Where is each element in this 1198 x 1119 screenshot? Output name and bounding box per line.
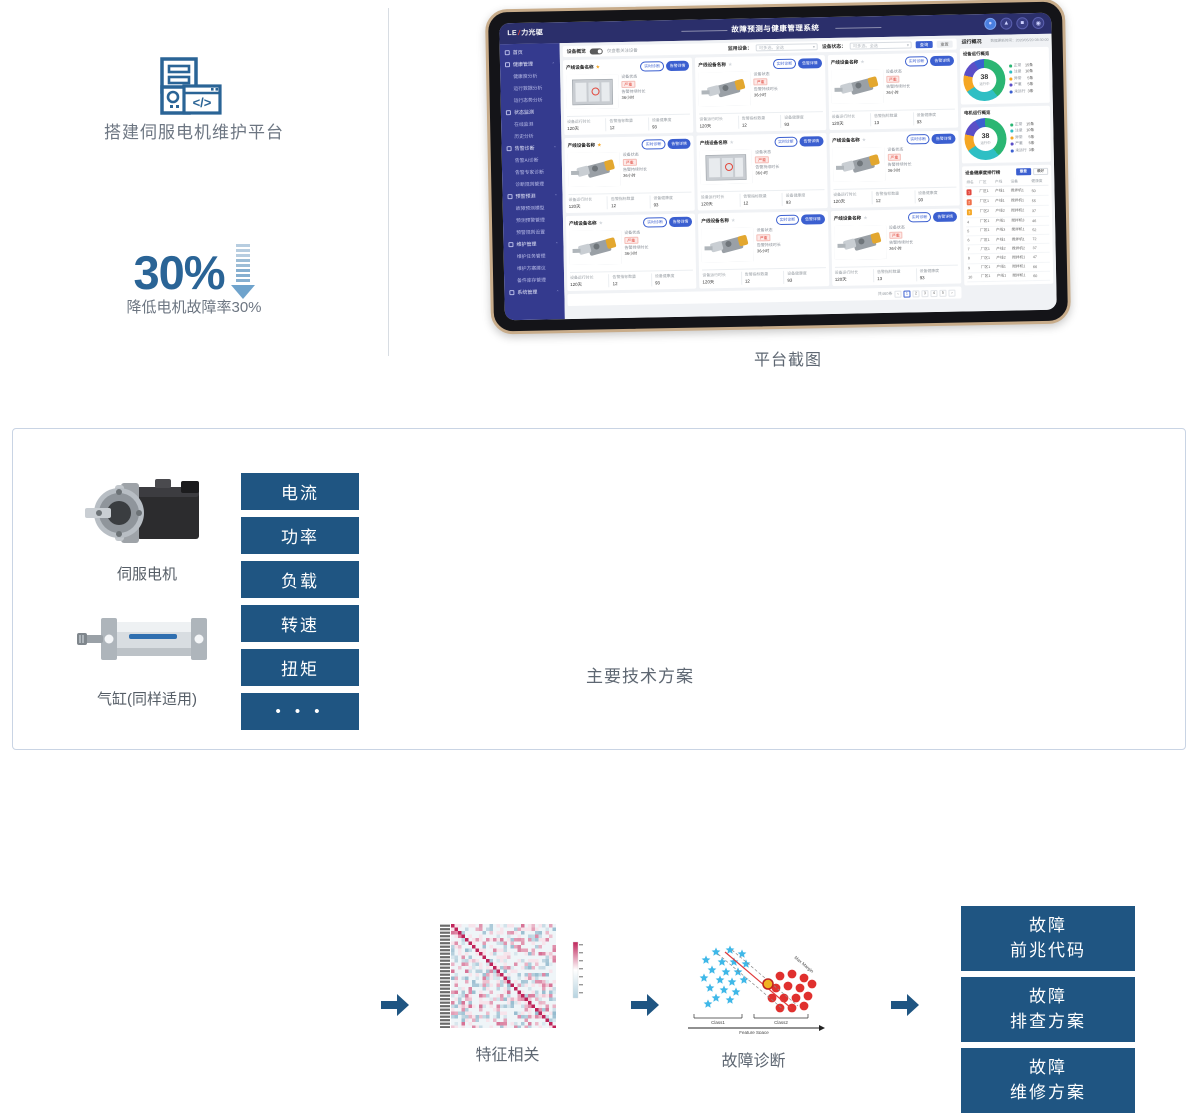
- stat-block: 30%: [0, 240, 388, 304]
- device-card-actions: 实时诊断 告警详情: [775, 214, 824, 225]
- favorite-star-icon[interactable]: ★: [863, 216, 868, 221]
- tablet-mockup: LE / 力光驱 故障预测与健康管理系统 ● ▲ ■ ◉ 首页健康管理⌃: [478, 0, 1098, 340]
- status-label: 设备状态: [623, 151, 691, 158]
- output-line1: 故障: [1029, 1056, 1067, 1081]
- filter-label-status: 设备状态：: [822, 43, 846, 50]
- favorite-star-icon[interactable]: ★: [729, 140, 734, 145]
- device-card-header: 产线设备名称 ★ 实时诊断 告警详情: [834, 212, 957, 224]
- status-badge: 严重: [889, 231, 903, 239]
- device-stat: 设备运行时长120天: [832, 113, 871, 127]
- legend-row: 未运行 3条: [1010, 89, 1034, 94]
- legend-value: 3条: [1028, 89, 1034, 94]
- output-line1: 故障: [1029, 914, 1067, 939]
- table-row[interactable]: 10 厂区1 产线1 搅拌机1 60: [967, 271, 1050, 282]
- device-stats-row: 设备运行时长120天告警指标数量12设备健康度93: [699, 111, 823, 129]
- legend-label: 异常: [1014, 76, 1022, 81]
- status-label: 设备状态: [886, 68, 954, 75]
- area-cell: 厂区2: [979, 207, 995, 217]
- favorites-toggle[interactable]: [590, 48, 603, 54]
- reset-button[interactable]: 重置: [936, 41, 953, 48]
- legend-row: 注意 10条: [1009, 69, 1033, 74]
- status-badge: 严重: [757, 234, 771, 242]
- stat-caption: 降低电机故障率30%: [0, 296, 388, 317]
- device-card[interactable]: 产线设备名称 ★ 实时诊断 告警详情 设备状态 严重 告警持续时长 36小时 设…: [563, 58, 694, 135]
- sidebar-item-label: 维护任务管理: [517, 252, 546, 260]
- device-stat-value: 13: [874, 119, 913, 125]
- status-badge: 严重: [621, 80, 635, 88]
- device-stat-value: 93: [918, 197, 957, 203]
- device-image: [566, 74, 619, 109]
- arrow-right-icon: [891, 994, 919, 1021]
- sidebar-item-label: 预警预测: [515, 192, 535, 199]
- device-stat-value: 12: [742, 122, 781, 128]
- area-cell: 厂区1: [979, 235, 995, 244]
- legend-label: 正常: [1015, 122, 1023, 127]
- status-badge: 严重: [887, 153, 901, 161]
- ranking-column-header: 产线: [994, 178, 1010, 187]
- platform-caption: 搭建伺服电机维护平台: [0, 118, 388, 143]
- pagination-prev[interactable]: ‹: [894, 290, 901, 297]
- realtime-diagnose-button[interactable]: 实时诊断: [640, 61, 664, 71]
- favorite-star-icon[interactable]: ★: [862, 138, 867, 143]
- realtime-diagnose-button[interactable]: 实时诊断: [774, 137, 798, 147]
- device-status-block: 设备状态 严重 告警持续时长 36小时: [753, 70, 822, 110]
- donut-center-value: 38: [981, 133, 989, 140]
- legend-dot-icon: [1009, 71, 1012, 74]
- toggle-label: 仅查看关注设备: [607, 47, 638, 54]
- device-stat: 设备健康度93: [648, 117, 691, 131]
- device-stat: 告警指标数量13: [870, 112, 913, 126]
- parameter-box-3[interactable]: 转速: [241, 605, 359, 642]
- realtime-diagnose-button[interactable]: 实时诊断: [772, 59, 796, 69]
- legend-row: 异常 5条: [1009, 76, 1033, 81]
- status-badge: 严重: [624, 236, 638, 244]
- diagnosis-caption: 故障诊断: [676, 1047, 831, 1071]
- filter-label-device: 监用设备：: [728, 44, 752, 51]
- device-stat-value: 93: [787, 277, 826, 283]
- rank-cell: 7: [967, 245, 980, 254]
- ranking-header: 设备健康度排行榜 最差最好: [965, 168, 1048, 177]
- device-card-body: 设备状态 严重 告警持续时长 36小时: [834, 224, 958, 265]
- alarm-detail-button[interactable]: 告警详情: [801, 214, 825, 224]
- pagination-page-2[interactable]: 2: [912, 290, 919, 297]
- rank-cell: 2: [966, 197, 979, 207]
- ranking-tab[interactable]: 最差: [1016, 168, 1031, 175]
- chevron-up-icon: ⌃: [555, 241, 558, 246]
- device-card[interactable]: 产线设备名称 ★ 实时诊断 告警详情 设备状态 严重 告警持续时长 36小时 设…: [564, 136, 695, 213]
- device-card[interactable]: 产线设备名称 ★ 实时诊断 告警详情 设备状态 严重 告警持续时长 36小时 设…: [695, 55, 826, 132]
- alarm-detail-button[interactable]: 告警详情: [932, 134, 956, 144]
- product-column: 伺服电机: [71, 469, 223, 719]
- rank-badge: 2: [967, 199, 972, 205]
- area-cell: 厂区1: [978, 197, 994, 207]
- legend-value: 10条: [1026, 128, 1034, 133]
- ranking-tabs[interactable]: 最差最好: [1016, 168, 1049, 176]
- legend-label: 注意: [1015, 129, 1023, 134]
- main-solution-caption: 主要技术方案: [540, 662, 740, 687]
- legend-row: 异常 5条: [1010, 135, 1034, 140]
- status-label: 设备状态: [624, 229, 692, 236]
- technical-solution-panel: 伺服电机: [12, 428, 1186, 750]
- arrow-right-icon: [381, 994, 409, 1021]
- section-divider: [388, 8, 389, 356]
- device-card-actions: 实时诊断 告警详情: [640, 61, 689, 72]
- device-stat-value: 93: [654, 202, 693, 208]
- realtime-diagnose-button[interactable]: 实时诊断: [905, 56, 929, 66]
- device-card-actions: 实时诊断 告警详情: [906, 134, 955, 145]
- pagination-page-5[interactable]: 5: [939, 289, 946, 296]
- device-stat-value: 120天: [569, 203, 608, 210]
- line-cell: 产线1: [996, 272, 1012, 281]
- right-panel-header: 运行概况 数据更新时间：2020/05/20 08:30:00: [960, 37, 1049, 46]
- bell-icon[interactable]: ■: [1016, 17, 1028, 29]
- sidebar-item-label: 运行数据分析: [513, 84, 542, 92]
- legend-dot-icon: [1010, 136, 1013, 139]
- parameter-box-2[interactable]: 负载: [241, 561, 359, 598]
- duration-value: 36小时: [888, 168, 901, 173]
- device-card[interactable]: 产线设备名称 ★ 实时诊断 告警详情 设备状态 严重 告警持续时长 36小时 设…: [566, 214, 697, 291]
- device-card[interactable]: 产线设备名称 ★ 实时诊断 告警详情 设备状态 严重 告警持续时长 36小时 设…: [828, 53, 959, 130]
- device-card-header: 产线设备名称 ★ 实时诊断 告警详情: [698, 58, 821, 70]
- alarm-detail-button[interactable]: 告警详情: [667, 139, 691, 149]
- line-cell: 产线2: [995, 253, 1011, 262]
- status-badge: 严重: [754, 78, 768, 86]
- device-cell: 搅拌机2: [1010, 206, 1031, 217]
- device-status-block: 设备状态 严重 告警持续时长 36小时: [623, 151, 692, 191]
- favorite-star-icon[interactable]: ★: [596, 65, 601, 70]
- device-stat: 设备运行时长120天: [699, 116, 738, 130]
- product-item: 伺服电机: [71, 469, 223, 584]
- sidebar-item-icon: [507, 146, 512, 151]
- ranking-tab[interactable]: 最好: [1033, 168, 1048, 175]
- device-card[interactable]: 产线设备名称 ★ 实时诊断 告警详情 设备状态 严重 告警持续时长 36小时 设…: [698, 211, 829, 288]
- output-column: 故障 前兆代码 故障 排查方案 故障 维修方案: [961, 906, 1135, 1119]
- device-card[interactable]: 产线设备名称 ★ 实时诊断 告警详情 设备状态 严重 告警持续时长 36小时 设…: [697, 133, 828, 210]
- legend-dot-icon: [1011, 143, 1014, 146]
- device-stat: 告警指标数量12: [605, 117, 648, 131]
- output-box-0[interactable]: 故障 前兆代码: [961, 906, 1135, 971]
- tablet-bezel: LE / 力光驱 故障预测与健康管理系统 ● ▲ ■ ◉ 首页健康管理⌃: [485, 0, 1071, 335]
- device-stat: 告警指标数量12: [738, 115, 781, 129]
- score-cell: 55: [1031, 195, 1049, 206]
- duration-value: 36小时: [754, 92, 767, 97]
- device-stat-value: 12: [876, 197, 915, 203]
- duration-value: 36小时: [625, 251, 638, 256]
- device-stat: 告警指标数量12: [741, 271, 784, 285]
- device-stat: 设备运行时长120天: [567, 118, 606, 132]
- device-stats-row: 设备运行时长120天告警指标数量12设备健康度93: [570, 270, 694, 288]
- output-box-1[interactable]: 故障 排查方案: [961, 977, 1135, 1042]
- device-stat-value: 12: [610, 124, 649, 130]
- status-label: 设备状态: [887, 146, 955, 153]
- sidebar-item-label: 系统管理: [517, 288, 537, 295]
- rank-badge: 1: [966, 189, 971, 195]
- parameter-column: 电流功率负载转速扭矩• • •: [241, 473, 359, 737]
- device-stat: 设备运行时长120天: [570, 274, 609, 288]
- legend-row: 严重 5条: [1011, 141, 1035, 146]
- filter-select-device[interactable]: 可多选、全选 ▾: [756, 43, 818, 51]
- device-image: [569, 230, 622, 265]
- realtime-diagnose-button[interactable]: 实时诊断: [908, 212, 932, 222]
- device-status-block: 设备状态 严重 告警持续时长 36小时: [624, 229, 693, 269]
- legend-label: 未运行: [1014, 89, 1025, 94]
- device-card-actions: 实时诊断 告警详情: [643, 217, 692, 228]
- device-image: [832, 147, 885, 182]
- device-stat-value: 93: [652, 124, 691, 130]
- device-stat: 告警指标数量12: [608, 273, 651, 287]
- legend-value: 5条: [1027, 82, 1033, 87]
- legend-label: 未运行: [1015, 148, 1026, 153]
- score-cell: 37: [1032, 243, 1050, 253]
- sidebar-item-icon: [506, 110, 511, 115]
- favorite-star-icon[interactable]: ★: [731, 218, 736, 223]
- device-image: [700, 149, 753, 184]
- donut-chart: 38 运行中: [964, 118, 1007, 161]
- filter-select-status[interactable]: 可多选、全选 ▾: [850, 41, 912, 49]
- device-card-body: 设备状态 严重 告警持续时长 36小时: [568, 151, 692, 192]
- pagination-page-1[interactable]: 1: [903, 290, 910, 297]
- realtime-diagnose-button[interactable]: 实时诊断: [775, 215, 799, 225]
- ranking-table-body: 1 厂区1 产线1 搅拌机1 50 2 厂区1 产线1 搅拌机1 55 3 厂区…: [965, 185, 1050, 281]
- legend-value: 10条: [1025, 69, 1033, 74]
- legend-row: 正常 15条: [1009, 63, 1033, 68]
- ranking-title: 设备健康度排行榜: [965, 169, 1000, 176]
- score-cell: 50: [1030, 185, 1048, 196]
- header-icon-group: ● ▲ ■ ◉: [984, 17, 1044, 30]
- device-stat-value: 13: [877, 275, 916, 281]
- area-cell: 厂区1: [979, 244, 995, 253]
- sidebar-item-label: 备件库存管理: [517, 276, 546, 284]
- device-cell: 搅拌机1: [1010, 186, 1031, 197]
- line-cell: 产线2: [994, 206, 1010, 216]
- chevron-up-icon: ⌃: [554, 193, 557, 198]
- sidebar-item-20[interactable]: 系统管理⌃: [504, 285, 564, 298]
- device-cell: 搅拌机2: [1011, 244, 1032, 254]
- area-cell: 厂区1: [980, 263, 996, 272]
- device-status-block: 设备状态 严重 告警持续时长 36小时: [621, 73, 690, 113]
- ranking-column-header: 排名: [965, 178, 978, 187]
- rank-cell: 5: [966, 226, 979, 235]
- sidebar-item-icon: [508, 242, 513, 247]
- legend-label: 异常: [1015, 135, 1023, 140]
- device-stats-row: 设备运行时长120天告警指标数量12设备健康度93: [833, 187, 957, 205]
- device-stat: 设备健康度93: [916, 268, 959, 282]
- favorite-star-icon[interactable]: ★: [728, 62, 733, 67]
- chevron-down-icon: ▾: [907, 42, 909, 47]
- legend-value: 5条: [1028, 135, 1034, 140]
- device-stat-value: 12: [611, 202, 650, 208]
- device-card-body: 设备状态 严重 告警持续时长 36小时: [566, 73, 690, 114]
- area-cell: 厂区1: [979, 226, 995, 235]
- rank-badge: 3: [967, 209, 972, 215]
- device-cell: 搅拌机1: [1011, 253, 1032, 263]
- rank-cell: 3: [966, 207, 979, 217]
- device-stat: 设备运行时长120天: [833, 191, 872, 205]
- device-stat-value: 93: [917, 119, 956, 125]
- output-line2: 前兆代码: [1010, 939, 1086, 964]
- parameter-box-4[interactable]: 扭矩: [241, 649, 359, 686]
- svg-text:</>: </>: [193, 95, 212, 110]
- legend-label: 严重: [1015, 142, 1023, 147]
- device-card-header: 产线设备名称 ★ 实时诊断 告警详情: [566, 61, 689, 73]
- sidebar-item-label: 在线监测: [514, 120, 533, 127]
- sidebar-item-label: 告警专家诊断: [515, 168, 544, 176]
- status-label: 设备状态: [756, 226, 824, 233]
- device-cell: 搅拌机1: [1011, 262, 1032, 272]
- device-stat: 设备健康度93: [651, 273, 694, 287]
- parameter-box-1[interactable]: 功率: [241, 517, 359, 554]
- rank-cell: 4: [966, 217, 979, 226]
- donut-legend: 正常 15条 注意 10条 异常 5条 严重 5条: [1010, 122, 1035, 155]
- duration-value: 36小时: [886, 90, 899, 95]
- rank-cell: 1: [965, 187, 978, 197]
- legend-value: 3条: [1029, 148, 1035, 153]
- sidebar-item-label: 告警AI诊断: [515, 156, 539, 163]
- favorite-star-icon[interactable]: ★: [599, 221, 604, 226]
- sidebar-item-icon: [505, 50, 510, 55]
- score-cell: 47: [1032, 253, 1050, 263]
- output-box-2[interactable]: 故障 维修方案: [961, 1048, 1135, 1113]
- donut-center-label: 运行中: [980, 140, 990, 145]
- sidebar-item-label: 诊断规则管理: [515, 180, 544, 188]
- realtime-diagnose-button[interactable]: 实时诊断: [643, 217, 667, 227]
- axis-label: Feature Space: [739, 1030, 769, 1034]
- legend-row: 注意 10条: [1010, 128, 1034, 133]
- device-stat-value: 120天: [835, 276, 874, 283]
- legend-row: 严重 5条: [1009, 82, 1033, 87]
- legend-dot-icon: [1009, 84, 1012, 87]
- device-stat-value: 93: [920, 275, 959, 281]
- device-stat: 设备运行时长120天: [835, 269, 874, 283]
- device-cell: 搅拌机1: [1010, 196, 1031, 207]
- legend-dot-icon: [1010, 130, 1013, 133]
- alarm-detail-button[interactable]: 告警详情: [800, 136, 824, 146]
- legend-row: 正常 15条: [1010, 122, 1034, 127]
- product-item: 气缸(同样适用): [71, 594, 223, 709]
- ranking-card: 设备健康度排行榜 最差最好 排名厂区产线设备健康度 1 厂区1 产线1 搅拌机1…: [962, 165, 1053, 286]
- svm-classification-chart: Max Margin Class1 Class2 Feature Space: [676, 936, 831, 1034]
- alarm-detail-button[interactable]: 告警详情: [669, 217, 693, 227]
- ranking-column-header: 厂区: [978, 178, 994, 187]
- chevron-up-icon: ⌃: [556, 289, 559, 294]
- sidebar-item-label: 运行态势分析: [514, 96, 543, 104]
- area-cell: 厂区1: [980, 254, 996, 263]
- score-cell: 72: [1031, 234, 1049, 244]
- user-icon[interactable]: ●: [984, 18, 996, 30]
- legend-dot-icon: [1009, 77, 1012, 80]
- device-stat: 设备健康度93: [914, 190, 957, 204]
- device-stat: 设备健康度93: [783, 270, 826, 284]
- device-name: 产线设备名称: [834, 215, 862, 222]
- tablet-caption: 平台截图: [478, 346, 1098, 370]
- status-label: 设备状态: [755, 148, 823, 155]
- device-image: [831, 69, 884, 104]
- down-arrow-icon: [231, 244, 255, 304]
- tablet-screen: LE / 力光驱 故障预测与健康管理系统 ● ▲ ■ ◉ 首页健康管理⌃: [499, 13, 1057, 321]
- search-button[interactable]: 查询: [916, 41, 933, 48]
- device-card[interactable]: 产线设备名称 ★ 实时诊断 告警详情 设备状态 严重 告警持续时长 36小时 设…: [829, 131, 960, 208]
- device-cell: 搅拌机1: [1010, 225, 1031, 235]
- device-card-header: 产线设备名称 ★ 实时诊断 告警详情: [831, 56, 954, 68]
- device-card-body: 设备状态 严重 告警持续时长 36小时: [700, 148, 824, 189]
- chevron-up-icon: ⌃: [552, 61, 555, 66]
- donut-chart-cards: 设备运行概览 38 运行中 正常 15条 注意 10条: [960, 47, 1051, 164]
- device-card-header: 产线设备名称 ★ 实时诊断 告警详情: [700, 136, 823, 148]
- donut-center-value: 38: [980, 74, 988, 81]
- device-name: 产线设备名称: [832, 137, 860, 144]
- device-stat-value: 12: [743, 200, 782, 206]
- device-card-body: 设备状态 严重 告警持续时长 36小时: [831, 68, 955, 109]
- chevron-up-icon: ⌃: [553, 145, 556, 150]
- device-name: 产线设备名称: [700, 140, 728, 147]
- legend-value: 5条: [1027, 76, 1033, 81]
- correlation-heatmap-chart: [425, 916, 590, 1028]
- device-stat-value: 120天: [567, 125, 606, 132]
- app-sidebar[interactable]: 首页健康管理⌃健康度分析运行数据分析运行态势分析状态监测在线监测历史分析告警诊断…: [500, 43, 565, 320]
- alarm-detail-button[interactable]: 告警详情: [933, 212, 957, 222]
- device-card-header: 产线设备名称 ★ 实时诊断 告警详情: [567, 139, 690, 151]
- device-card-grid: 产线设备名称 ★ 实时诊断 告警详情 设备状态 严重 告警持续时长 36小时 设…: [563, 53, 961, 292]
- status-badge: 严重: [886, 75, 900, 83]
- device-stat: 告警指标数量12: [739, 193, 782, 207]
- pneumatic-cylinder-photo: [71, 594, 223, 682]
- device-card[interactable]: 产线设备名称 ★ 实时诊断 告警详情 设备状态 严重 告警持续时长 36小时 设…: [831, 209, 962, 286]
- pagination-next[interactable]: ›: [948, 289, 955, 296]
- device-card-actions: 实时诊断 告警详情: [772, 58, 821, 69]
- device-stat-value: 93: [655, 280, 694, 286]
- device-card-header: 产线设备名称 ★ 实时诊断 告警详情: [569, 217, 692, 229]
- device-stats-row: 设备运行时长120天告警指标数量12设备健康度93: [568, 192, 692, 210]
- settings-icon[interactable]: ◉: [1032, 17, 1044, 29]
- sidebar-item-label: 历史分析: [514, 132, 533, 139]
- area-cell: 厂区1: [979, 217, 995, 226]
- parameter-box-0[interactable]: 电流: [241, 473, 359, 510]
- heatmap-caption: 特征相关: [425, 1041, 590, 1065]
- device-stats-row: 设备运行时长120天告警指标数量13设备健康度93: [832, 109, 956, 127]
- sidebar-item-label: 预警规则设置: [516, 228, 545, 236]
- sidebar-item-icon: [509, 290, 514, 295]
- device-name: 产线设备名称: [701, 218, 729, 225]
- sidebar-item-icon: [505, 62, 510, 67]
- line-cell: 产线1: [994, 196, 1010, 206]
- legend-value: 15条: [1025, 63, 1033, 68]
- class1-label: Class1: [711, 1020, 725, 1025]
- device-card-body: 设备状态 严重 告警持续时长 36小时: [702, 226, 826, 267]
- realtime-diagnose-button[interactable]: 实时诊断: [642, 139, 666, 149]
- product-label: 伺服电机: [71, 563, 223, 584]
- alarm-detail-button[interactable]: 告警详情: [930, 56, 954, 66]
- parameter-box-5[interactable]: • • •: [241, 693, 359, 730]
- duration-value: 36小时: [622, 95, 635, 100]
- alarm-detail-button[interactable]: 告警详情: [666, 61, 690, 71]
- class2-label: Class2: [774, 1020, 788, 1025]
- donut-chart-title: 电机运行概览: [964, 109, 1047, 117]
- favorite-star-icon[interactable]: ★: [860, 60, 865, 65]
- favorite-star-icon[interactable]: ★: [597, 143, 602, 148]
- realtime-diagnose-button[interactable]: 实时诊断: [906, 134, 930, 144]
- pagination-page-3[interactable]: 3: [921, 290, 928, 297]
- home-icon[interactable]: ▲: [1000, 17, 1012, 29]
- output-line2: 维修方案: [1010, 1081, 1086, 1106]
- score-cell: 66: [1032, 262, 1050, 272]
- device-stats-row: 设备运行时长120天告警指标数量13设备健康度93: [835, 265, 959, 283]
- top-section: </> 搭建伺服电机维护平台 30%: [0, 0, 1198, 400]
- alarm-detail-button[interactable]: 告警详情: [798, 58, 822, 68]
- pagination-page-4[interactable]: 4: [930, 289, 937, 296]
- device-card-header: 产线设备名称 ★ 实时诊断 告警详情: [701, 214, 824, 226]
- donut-chart-card: 设备运行概览 38 运行中 正常 15条 注意 10条: [960, 47, 1050, 105]
- filter-select-status-value: 可多选、全选: [853, 43, 878, 49]
